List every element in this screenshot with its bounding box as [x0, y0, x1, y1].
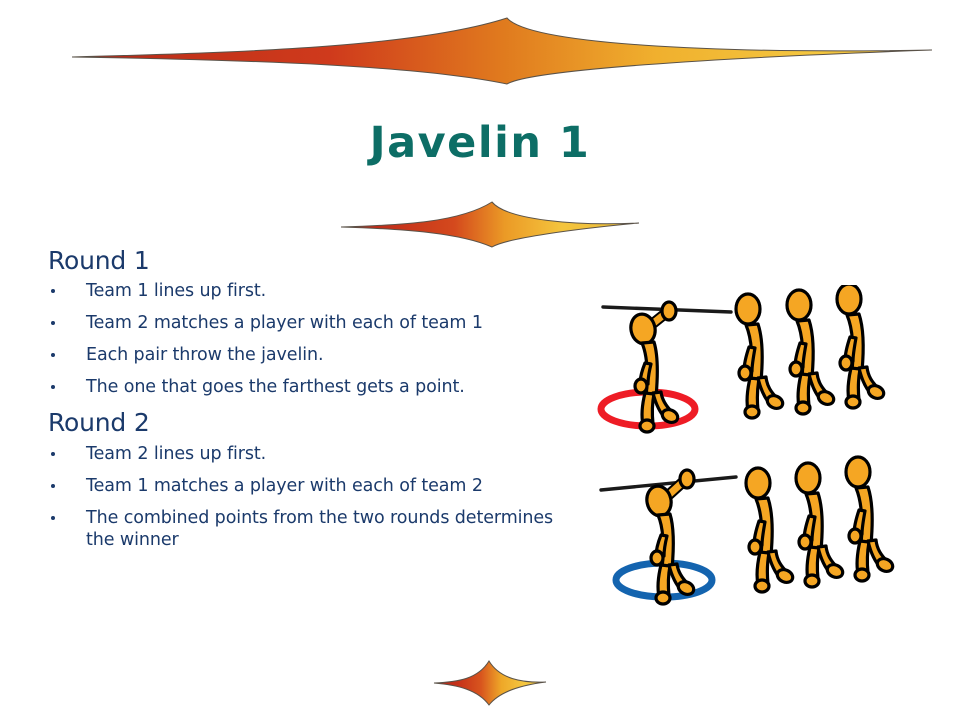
list-item-text: Each pair throw the javelin. — [86, 345, 323, 365]
list-item-text: Team 2 matches a player with each of tea… — [86, 313, 483, 333]
list-item-text: Team 2 lines up first. — [86, 444, 266, 464]
walker-figure — [796, 463, 845, 587]
list-item-text: Team 1 lines up first. — [86, 281, 266, 301]
walker-figure — [837, 285, 886, 408]
top-banner-ornament — [60, 10, 940, 90]
list-item-text: The combined points from the two rounds … — [86, 508, 553, 550]
title-ornament — [335, 198, 645, 250]
list-item: Team 1 lines up first. — [48, 280, 568, 302]
list-item: Each pair throw the javelin. — [48, 344, 568, 366]
bullet-dot-icon — [51, 289, 55, 293]
walker-figure — [736, 294, 785, 418]
slide-body: Round 1 Team 1 lines up first. Team 2 ma… — [48, 248, 568, 561]
bullet-dot-icon — [51, 516, 55, 520]
list-item: The one that goes the farthest gets a po… — [48, 376, 568, 398]
walker-figure — [746, 468, 795, 592]
bullet-dot-icon — [51, 385, 55, 389]
bullet-list-round-1: Team 1 lines up first. Team 2 matches a … — [48, 280, 568, 398]
bottom-ornament — [430, 658, 550, 708]
list-item: Team 1 matches a player with each of tea… — [48, 475, 568, 497]
bullet-dot-icon — [51, 452, 55, 456]
bullet-dot-icon — [51, 484, 55, 488]
bullet-list-round-2: Team 2 lines up first. Team 1 matches a … — [48, 443, 568, 551]
thrower-figure — [644, 470, 696, 604]
page-title: Javelin 1 — [0, 118, 960, 168]
bullet-dot-icon — [51, 353, 55, 357]
section-heading-round-1: Round 1 — [48, 248, 568, 274]
list-item-text: Team 1 matches a player with each of tea… — [86, 476, 483, 496]
slide: Javelin 1 Round 1 Team 1 lines up first. — [0, 0, 960, 720]
section-heading-round-2: Round 2 — [48, 410, 568, 436]
walker-figure — [846, 457, 895, 581]
list-item-text: The one that goes the farthest gets a po… — [86, 377, 465, 397]
list-item: The combined points from the two rounds … — [48, 507, 568, 551]
walker-figure — [787, 290, 836, 414]
bullet-dot-icon — [51, 321, 55, 325]
thrower-figure — [628, 302, 680, 432]
round-2-clipart — [596, 455, 896, 610]
list-item: Team 2 lines up first. — [48, 443, 568, 465]
round-1-clipart — [596, 285, 896, 435]
list-item: Team 2 matches a player with each of tea… — [48, 312, 568, 334]
